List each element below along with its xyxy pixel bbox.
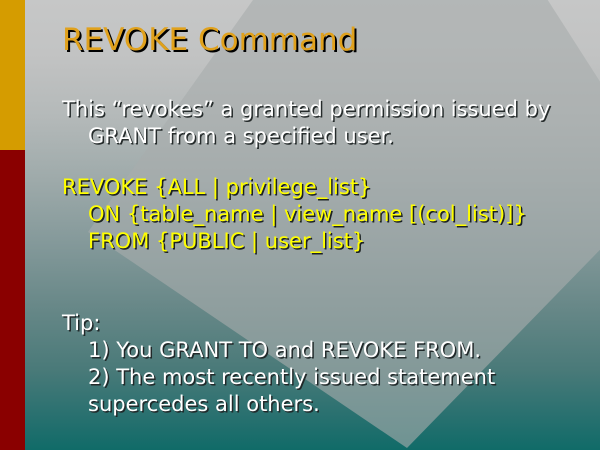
tip-heading: Tip: bbox=[62, 310, 495, 337]
syntax-block: REVOKE {ALL | privilege_list}ON {table_n… bbox=[62, 174, 527, 255]
presentation-slide: REVOKE Command This “revokes” a granted … bbox=[0, 0, 600, 450]
syntax-line-1: REVOKE {ALL | privilege_list} bbox=[62, 174, 527, 201]
tip-item-2: 2) The most recently issued statement bbox=[62, 364, 495, 391]
page-title: REVOKE Command bbox=[62, 22, 357, 58]
intro-line-2: GRANT from a specified user. bbox=[62, 123, 550, 150]
intro-line-1: This “revokes” a granted permission issu… bbox=[62, 97, 550, 121]
slide-content: REVOKE Command This “revokes” a granted … bbox=[0, 0, 600, 450]
tip-item-1: 1) You GRANT TO and REVOKE FROM. bbox=[62, 337, 495, 364]
syntax-line-2: ON {table_name | view_name [(col_list)]} bbox=[62, 201, 527, 228]
tip-block: Tip:1) You GRANT TO and REVOKE FROM.2) T… bbox=[62, 310, 495, 418]
tip-item-3: supercedes all others. bbox=[62, 391, 495, 418]
syntax-line-3: FROM {PUBLIC | user_list} bbox=[62, 228, 527, 255]
intro-paragraph: This “revokes” a granted permission issu… bbox=[62, 96, 550, 150]
